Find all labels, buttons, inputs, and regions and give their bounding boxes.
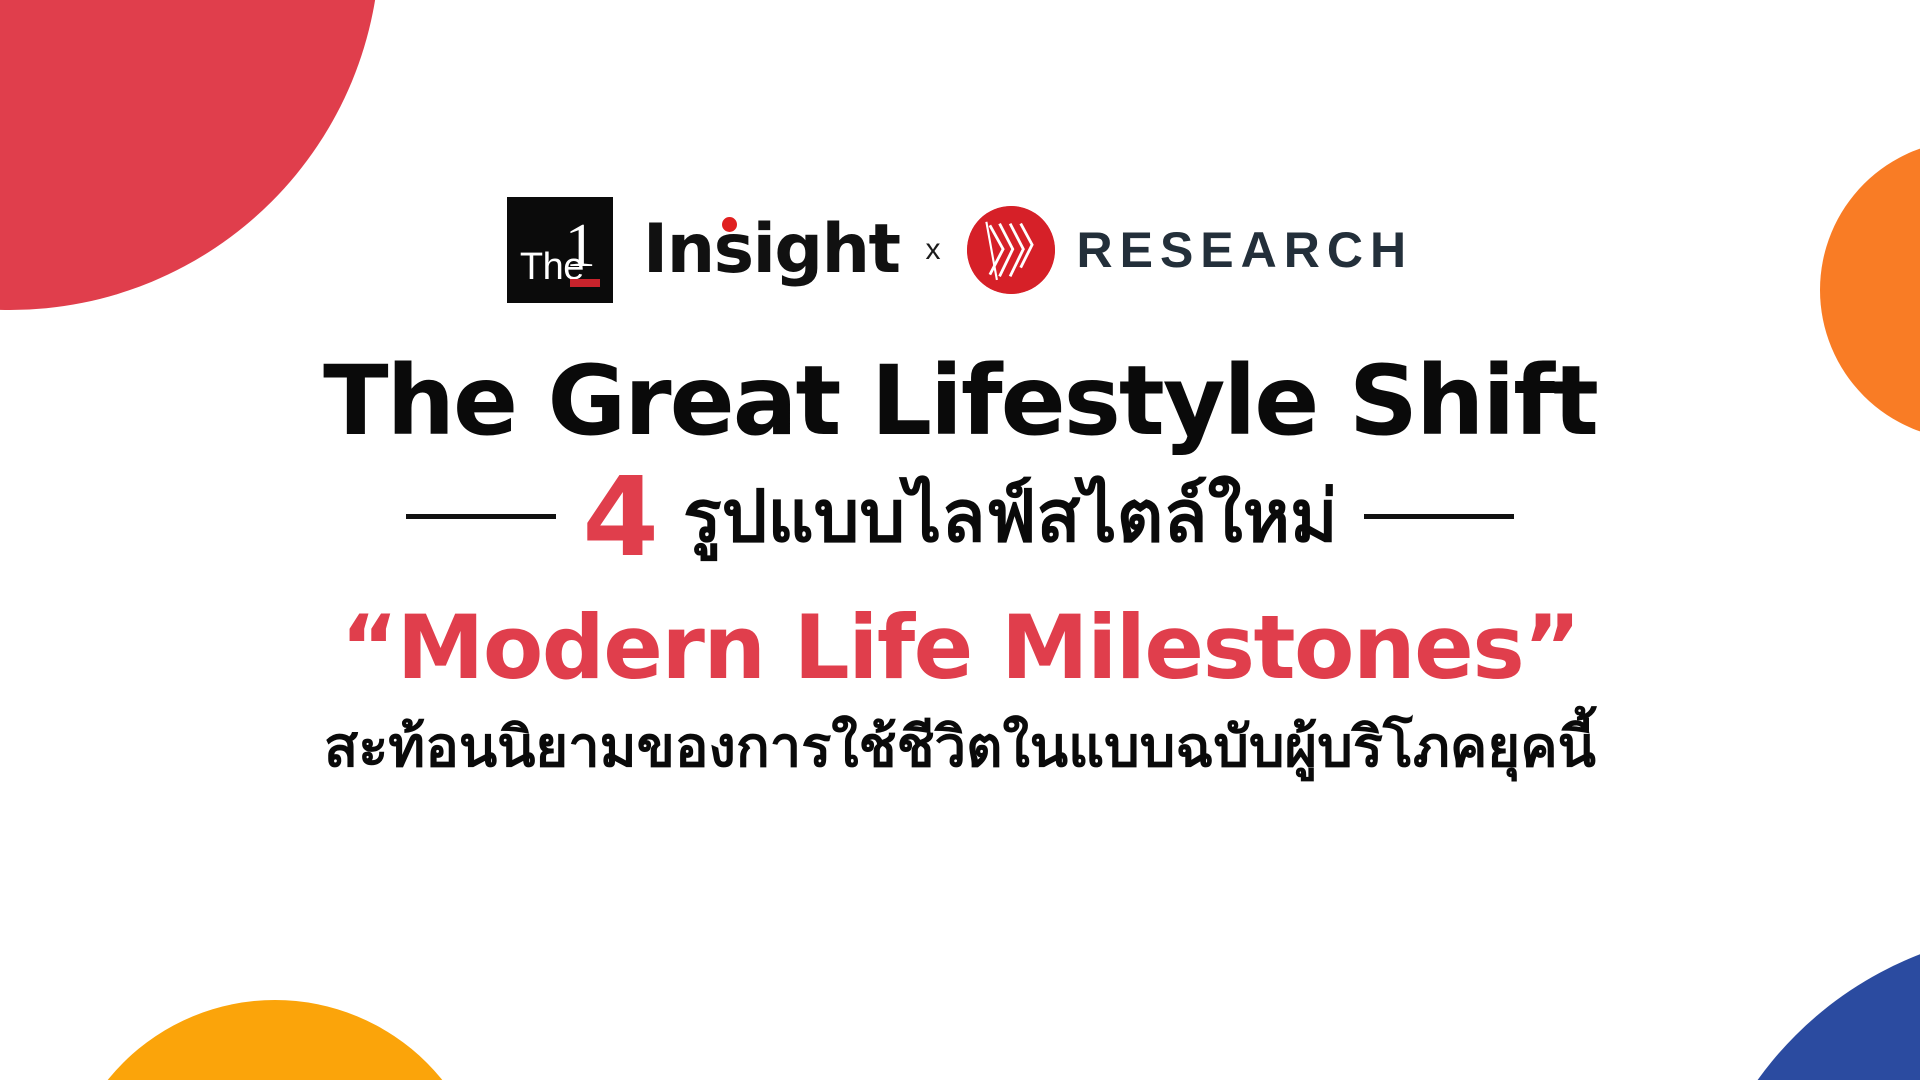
headline-thai-line: รูปแบบไลฟ์สไตล์ใหม่ xyxy=(683,477,1338,556)
subtitle-thai: สะท้อนนิยามของการใช้ชีวิตในแบบฉบับผู้บริ… xyxy=(324,716,1596,780)
rule-right-divider xyxy=(1364,514,1514,519)
poster-canvas: The 1 Insight x xyxy=(0,0,1920,1080)
count-numeral-four: 4 xyxy=(582,462,657,572)
insight-red-dot-icon xyxy=(722,217,737,232)
quote-headline: “Modern Life Milestones” xyxy=(340,602,1579,694)
the1-badge-one-numeral: 1 xyxy=(565,215,596,277)
wresearch-logo: RESEARCH xyxy=(967,206,1414,294)
headline-secondary-row: 4 รูปแบบไลฟ์สไตล์ใหม่ xyxy=(406,462,1513,572)
research-wordmark-text: RESEARCH xyxy=(1077,225,1414,275)
poster-content: The 1 Insight x xyxy=(0,0,1920,1080)
logo-separator-x: x xyxy=(926,235,941,265)
headline-main: The Great Lifestyle Shift xyxy=(323,352,1597,452)
rule-left-divider xyxy=(406,514,556,519)
logo-lockup: The 1 Insight x xyxy=(507,196,1413,304)
insight-wordmark-text: Insight xyxy=(643,210,900,289)
the1-logo-badge: The 1 xyxy=(507,197,613,303)
w-monogram-circle-icon xyxy=(967,206,1055,294)
insight-wordmark: Insight xyxy=(643,216,900,284)
the1-red-underline-icon xyxy=(570,279,600,287)
